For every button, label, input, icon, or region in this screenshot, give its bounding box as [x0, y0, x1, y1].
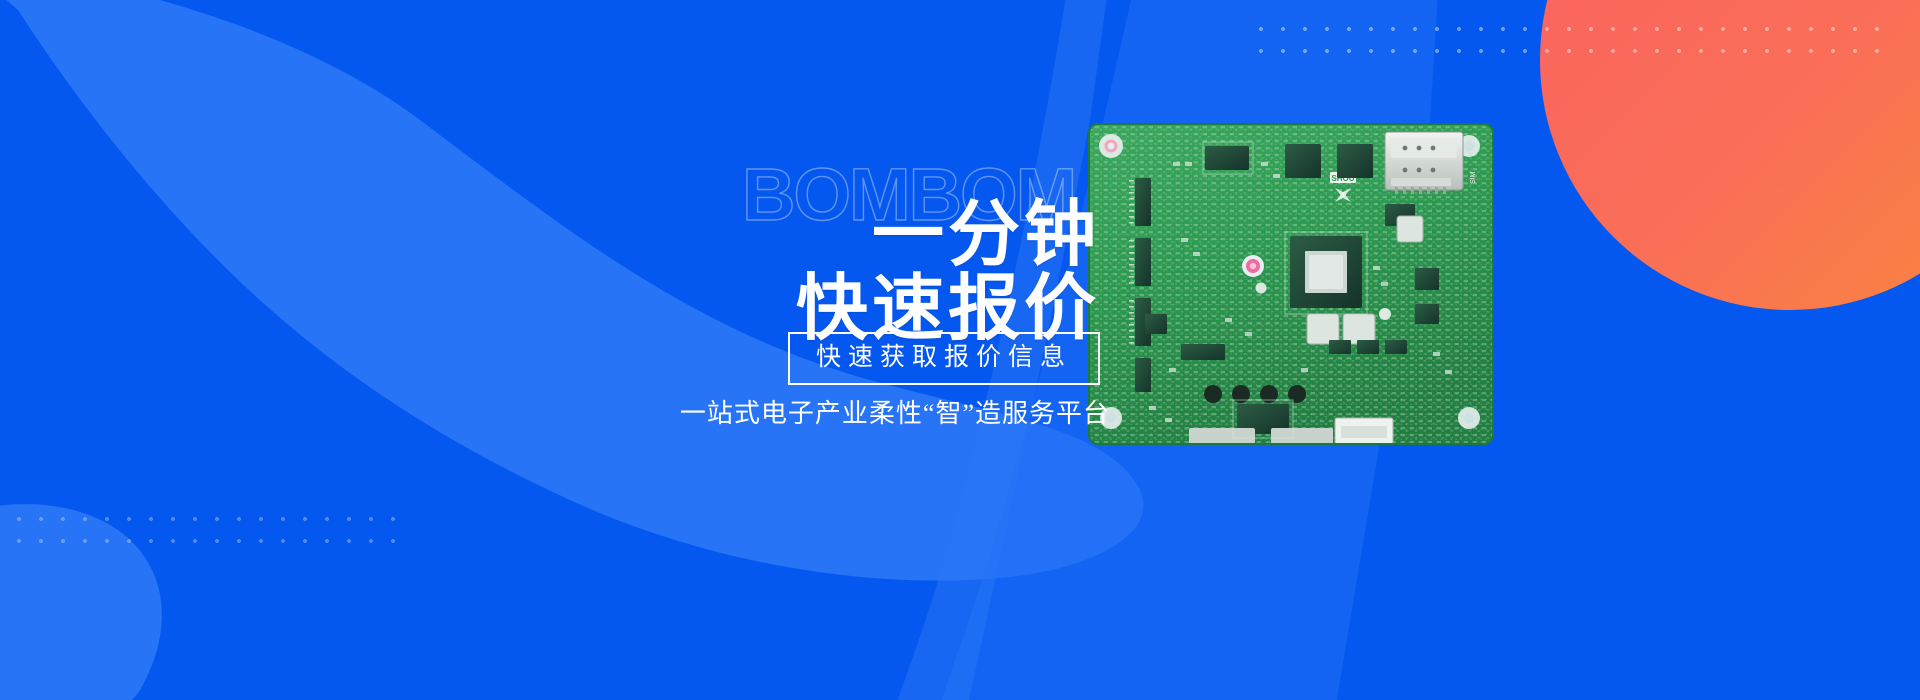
- headline-line-1: 一分钟: [680, 198, 1100, 272]
- pcb-round-pad: [1379, 308, 1391, 320]
- pcb-pink-jack: [1242, 255, 1264, 277]
- pcb-main-processor: [1290, 236, 1362, 308]
- pcb-card-slot-connector: SIM: [1385, 132, 1477, 194]
- promo-banner: SIM SHOU: [0, 0, 1920, 700]
- dot-grid-bottom-left: [8, 508, 408, 556]
- pcb-svg: SIM SHOU: [1085, 118, 1505, 453]
- pcb-circuit-board-image: SIM SHOU: [1085, 118, 1505, 453]
- banner-text-content: BOMBOM 一分钟 快速报价 快速获取报价信息 一站式电子产业柔性“智”造服务…: [680, 150, 1100, 550]
- get-quote-button[interactable]: 快速获取报价信息: [788, 332, 1100, 385]
- pcb-left-ic-column: [1135, 178, 1151, 392]
- page-title: 一分钟 快速报价: [680, 198, 1100, 346]
- pcb-sim-label: SIM: [1470, 171, 1477, 184]
- dot-grid-top-right: [1250, 18, 1890, 66]
- tagline-text: 一站式电子产业柔性“智”造服务平台: [680, 393, 1110, 430]
- pcb-test-pad: [1256, 283, 1267, 294]
